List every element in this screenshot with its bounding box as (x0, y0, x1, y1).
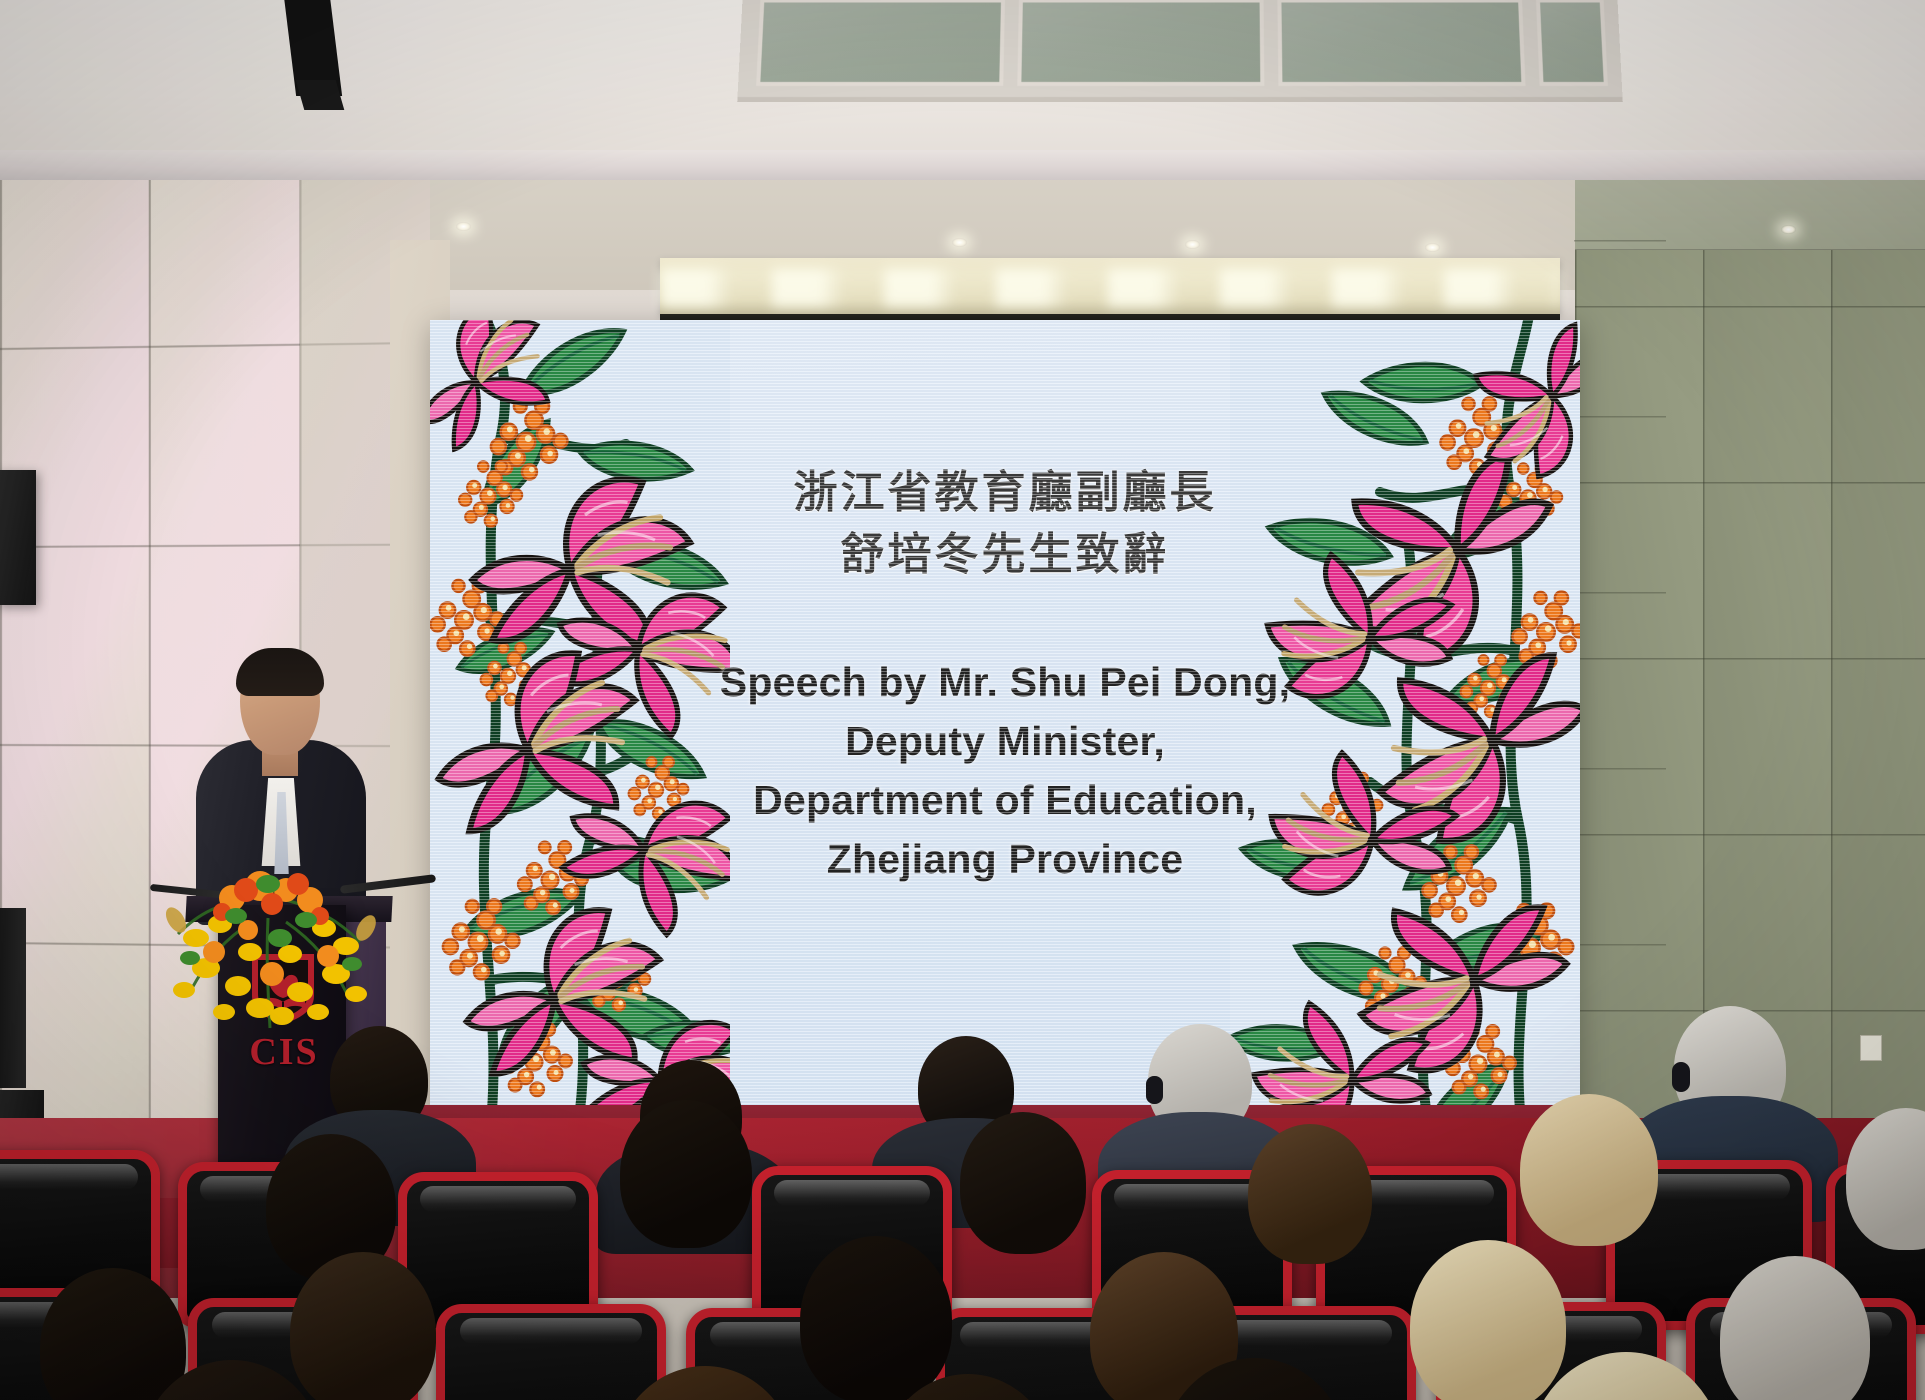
ceiling-downlight (1781, 225, 1796, 234)
audience-seating (0, 1040, 1925, 1400)
ceiling-vent-grille (737, 0, 1623, 102)
ceiling-recess-channel-lower (296, 80, 345, 110)
auditorium-seat[interactable] (436, 1304, 666, 1400)
slide-english-line-4: Zhejiang Province (430, 830, 1580, 889)
attendee-head (800, 1236, 952, 1400)
slide-chinese-line-1: 浙江省教育廳副廳長 (430, 462, 1580, 524)
valance-wash-lights (660, 268, 1560, 308)
earpiece-icon (1146, 1076, 1163, 1104)
attendee-head (1520, 1094, 1658, 1246)
slide-english-line-3: Department of Education, (430, 771, 1580, 830)
slide-english-block: Speech by Mr. Shu Pei Dong, Deputy Minis… (430, 653, 1580, 889)
attendee-head (960, 1112, 1086, 1254)
vent-panel (756, 0, 1005, 86)
led-presentation-screen: 浙江省教育廳副廳長 舒培冬先生致辭 Speech by Mr. Shu Pei … (430, 320, 1580, 1110)
ceiling-downlight (456, 222, 471, 231)
attendee-head (290, 1252, 436, 1400)
conference-hall-photo: 浙江省教育廳副廳長 舒培冬先生致辭 Speech by Mr. Shu Pei … (0, 0, 1925, 1400)
vent-panel (1536, 0, 1608, 86)
slide-english-line-2: Deputy Minister, (430, 712, 1580, 771)
slide-text-block: 浙江省教育廳副廳長 舒培冬先生致辭 Speech by Mr. Shu Pei … (430, 462, 1580, 889)
attendee-head (620, 1100, 752, 1248)
ceiling-downlight (1425, 243, 1440, 252)
slide-english-line-1: Speech by Mr. Shu Pei Dong, (430, 653, 1580, 712)
cis-crest-logo (248, 950, 318, 1026)
speaker-hair (236, 648, 324, 696)
slide-chinese-line-2: 舒培冬先生致辭 (430, 524, 1580, 586)
earpiece-icon (1672, 1062, 1690, 1092)
vent-panel (1277, 0, 1525, 86)
attendee-head (1248, 1124, 1372, 1264)
vent-panel (1017, 0, 1264, 86)
ceiling-soffit-lip (0, 150, 1925, 180)
attendee-head (1410, 1240, 1566, 1400)
ceiling-downlight (952, 238, 967, 247)
wall-mounted-speaker (0, 470, 36, 605)
ceiling-downlight (1185, 240, 1200, 249)
